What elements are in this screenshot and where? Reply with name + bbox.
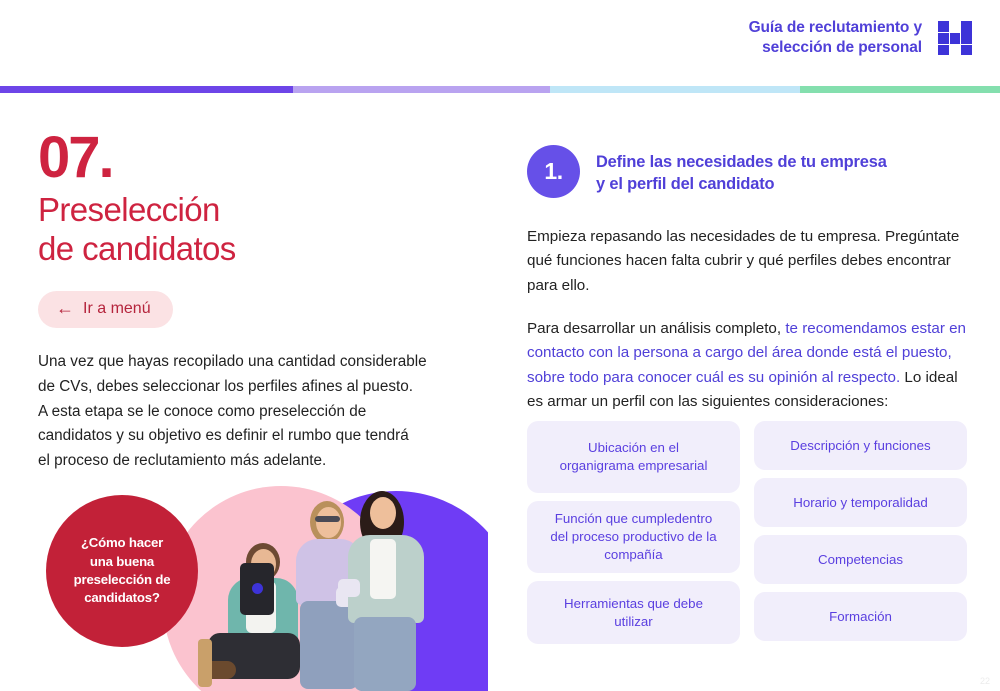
- right-paragraph-2: Para desarrollar un análisis completo, t…: [527, 317, 967, 414]
- step-header: 1. Define las necesidades de tu empresa …: [527, 145, 967, 198]
- card-horario-temporalidad[interactable]: Horario y temporalidad: [754, 478, 967, 527]
- woman1-face: [316, 507, 341, 538]
- right-column: 1. Define las necesidades de tu empresa …: [527, 145, 967, 414]
- logo-square-2: [938, 33, 949, 44]
- brand-block: Guía de reclutamiento y selección de per…: [749, 18, 972, 59]
- chair-leg-left: [198, 639, 212, 687]
- logo-bar-right-top: [961, 21, 972, 44]
- woman2-tshirt: [370, 539, 396, 599]
- logo-square-4: [938, 45, 949, 55]
- people-photo: [188, 483, 488, 691]
- page-number: 22: [980, 676, 990, 686]
- hero-illustration: ¿Cómo hacer una buena preselección de ca…: [38, 483, 488, 691]
- h-squares-logo-icon: [938, 21, 972, 55]
- card-funcion-proceso-productivo[interactable]: Función que cumpledentro del proceso pro…: [527, 501, 740, 573]
- logo-bar-right-bottom: [961, 45, 972, 55]
- section-number: 07.: [38, 130, 478, 185]
- woman2-jeans: [354, 617, 416, 691]
- card-column-right: Descripción y funciones Horario y tempor…: [754, 421, 967, 646]
- go-to-menu-button[interactable]: ← Ir a menú: [38, 291, 173, 328]
- left-intro-paragraph: Una vez que hayas recopilado una cantida…: [38, 350, 478, 474]
- left-column: 07. Preselección de candidatos ← Ir a me…: [38, 130, 478, 474]
- card-competencias[interactable]: Competencias: [754, 535, 967, 584]
- considerations-card-grid: Ubicación en el organigrama empresarial …: [527, 421, 967, 646]
- woman2-face: [370, 497, 396, 529]
- go-to-menu-label: Ir a menú: [83, 300, 151, 318]
- arrow-left-icon: ←: [56, 299, 74, 317]
- card-column-left: Ubicación en el organigrama empresarial …: [527, 421, 740, 646]
- step-number-badge: 1.: [527, 145, 580, 198]
- card-formacion[interactable]: Formación: [754, 592, 967, 641]
- woman1-glasses-icon: [315, 516, 340, 522]
- divider-segment-sky: [550, 86, 800, 93]
- right-paragraph-1: Empieza repasando las necesidades de tu …: [527, 225, 967, 298]
- page-title: Preselección de candidatos: [38, 191, 478, 269]
- brand-title: Guía de reclutamiento y selección de per…: [749, 18, 922, 59]
- paragraph-2-start: Para desarrollar un análisis completo,: [527, 320, 785, 337]
- logo-square-1: [938, 21, 949, 32]
- card-ubicacion-organigrama[interactable]: Ubicación en el organigrama empresarial: [527, 421, 740, 493]
- divider-bar: [0, 86, 1000, 93]
- tablet-screen-logo: [252, 583, 263, 594]
- page-header: Guía de reclutamiento y selección de per…: [0, 0, 1000, 88]
- divider-segment-violet: [0, 86, 293, 93]
- card-herramientas[interactable]: Herramientas que debe utilizar: [527, 581, 740, 644]
- divider-segment-mint: [800, 86, 1000, 93]
- card-descripcion-funciones[interactable]: Descripción y funciones: [754, 421, 967, 470]
- logo-square-3: [950, 33, 960, 44]
- coffee-mug-2: [338, 579, 360, 597]
- hero-caption: ¿Cómo hacer una buena preselección de ca…: [46, 495, 198, 647]
- step-heading: Define las necesidades de tu empresa y e…: [596, 152, 887, 195]
- divider-segment-lavender: [293, 86, 550, 93]
